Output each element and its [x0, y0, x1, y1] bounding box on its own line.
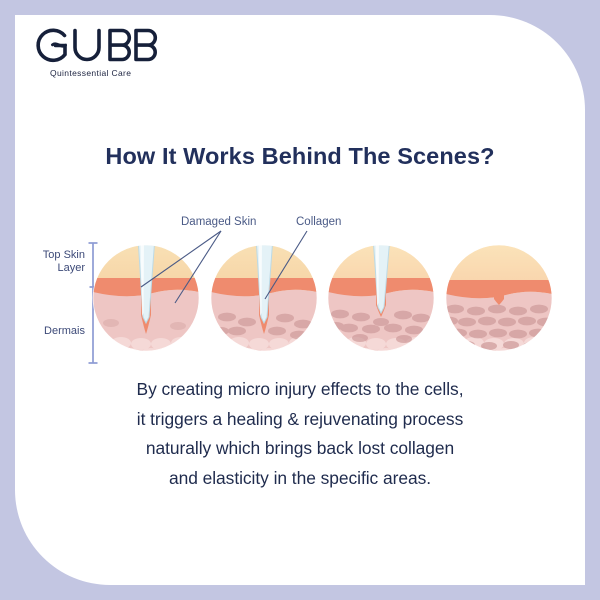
description-line-2: it triggers a healing & rejuvenating pro…: [15, 405, 585, 435]
description-line-4: and elasticity in the specific areas.: [15, 464, 585, 494]
description-line-3: naturally which brings back lost collage…: [15, 434, 585, 464]
page-title: How It Works Behind The Scenes?: [15, 143, 585, 170]
content-card: Quintessential Care How It Works Behind …: [15, 15, 585, 585]
description-text: By creating micro injury effects to the …: [15, 375, 585, 493]
poster-canvas: Quintessential Care How It Works Behind …: [0, 0, 600, 600]
description-line-1: By creating micro injury effects to the …: [15, 375, 585, 405]
stage-1-illustration: [91, 237, 199, 360]
axis-label-top-skin-line2: Layer: [57, 262, 85, 274]
stage-2-illustration: [209, 237, 317, 360]
callout-label-collagen: Collagen: [296, 216, 341, 228]
gubb-wordmark-icon: [34, 23, 160, 67]
brand-tagline: Quintessential Care: [50, 68, 254, 78]
brand-logo: Quintessential Care: [34, 23, 254, 78]
callout-label-damaged-skin: Damaged Skin: [181, 216, 256, 228]
skin-diagram: Top Skin Layer Dermais: [15, 195, 585, 380]
stage-3-illustration: [326, 237, 434, 360]
axis-label-top-skin-line1: Top Skin: [43, 249, 85, 261]
axis-label-dermais: Dermais: [44, 325, 85, 337]
